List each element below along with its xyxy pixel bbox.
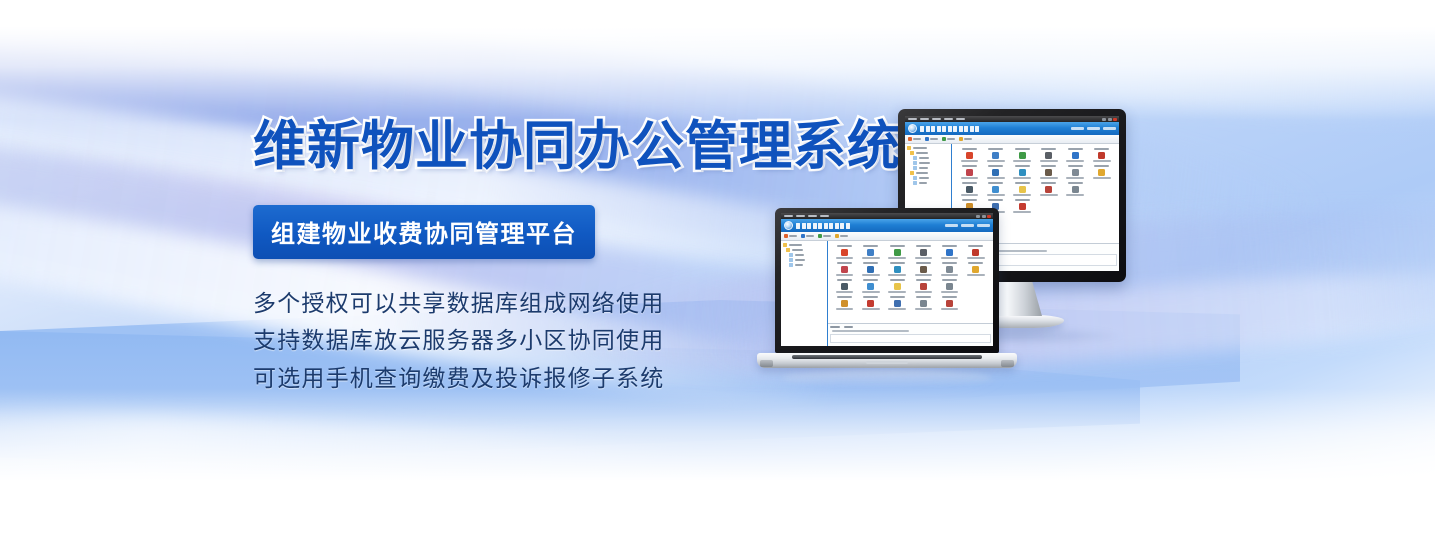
module-label — [915, 257, 932, 259]
module-icon[interactable] — [992, 169, 999, 176]
module-icon-cell[interactable] — [1063, 182, 1087, 196]
module-icon[interactable] — [1098, 169, 1105, 176]
module-icon[interactable] — [966, 152, 973, 159]
app-title-text — [920, 126, 979, 132]
menu-item[interactable] — [808, 215, 817, 217]
module-label — [888, 274, 905, 276]
tree-node[interactable] — [907, 156, 949, 160]
module-icon-cell[interactable] — [1010, 148, 1034, 162]
module-label — [967, 257, 984, 259]
tree-node[interactable] — [907, 166, 949, 170]
module-icon[interactable] — [1072, 169, 1079, 176]
toolbar-button[interactable] — [925, 137, 938, 141]
module-caption — [1015, 148, 1030, 150]
app-toolbar[interactable] — [905, 135, 1119, 144]
module-icon-cell[interactable] — [938, 279, 962, 293]
module-icon[interactable] — [1072, 152, 1079, 159]
module-icon-cell[interactable] — [957, 182, 981, 196]
tree-node[interactable] — [783, 258, 825, 262]
module-label — [941, 308, 958, 310]
module-label — [915, 274, 932, 276]
navigation-tree[interactable] — [781, 241, 828, 346]
module-icon[interactable] — [920, 300, 927, 307]
module-icon-cell[interactable] — [911, 245, 935, 259]
maximize-icon[interactable] — [982, 215, 986, 218]
laptop-screen — [781, 213, 993, 346]
module-label — [1093, 177, 1111, 179]
module-icon-cell[interactable] — [1063, 216, 1087, 230]
maximize-icon[interactable] — [1108, 118, 1112, 121]
laptop-lid — [775, 208, 999, 353]
module-icon[interactable] — [1098, 152, 1105, 159]
app-window-laptop — [781, 213, 993, 346]
tree-node[interactable] — [907, 146, 949, 150]
module-label — [987, 177, 1005, 179]
module-icon-cell[interactable] — [964, 296, 988, 310]
module-label — [862, 308, 879, 310]
window-controls[interactable] — [1102, 118, 1117, 121]
module-caption — [837, 296, 852, 298]
module-icon-cell[interactable] — [911, 262, 935, 276]
module-caption — [916, 245, 931, 247]
menu-item[interactable] — [956, 118, 965, 120]
module-icon-cell[interactable] — [833, 262, 857, 276]
header-link[interactable] — [977, 224, 990, 227]
module-label — [1066, 160, 1084, 162]
bottom-panel-header — [830, 326, 991, 328]
app-title-text — [796, 223, 850, 229]
module-icon-cell[interactable] — [938, 296, 962, 310]
module-icon-cell[interactable] — [859, 296, 883, 310]
module-icon-cell[interactable] — [1037, 199, 1061, 213]
app-main-panel — [828, 241, 993, 346]
module-icon[interactable] — [894, 283, 901, 290]
module-label — [987, 194, 1005, 196]
module-label — [1013, 160, 1031, 162]
module-icon[interactable] — [894, 300, 901, 307]
laptop-reflection — [782, 370, 992, 386]
module-icon-cell[interactable] — [957, 165, 981, 179]
tree-node[interactable] — [907, 151, 949, 155]
module-icon[interactable] — [867, 266, 874, 273]
toolbar-button[interactable] — [801, 234, 814, 238]
module-caption — [1068, 182, 1083, 184]
header-link[interactable] — [1071, 127, 1084, 130]
module-icon[interactable] — [1045, 186, 1052, 193]
module-icon[interactable] — [1072, 186, 1079, 193]
app-header — [781, 219, 993, 232]
module-icon-cell[interactable] — [938, 245, 962, 259]
module-label — [1040, 160, 1058, 162]
close-icon[interactable] — [987, 215, 991, 218]
header-link[interactable] — [1087, 127, 1100, 130]
module-caption — [968, 245, 983, 247]
module-caption — [890, 279, 905, 281]
module-label — [941, 291, 958, 293]
module-caption — [942, 262, 957, 264]
app-body — [781, 241, 993, 346]
module-label — [888, 257, 905, 259]
bottom-panel-line — [832, 330, 909, 332]
module-caption — [988, 199, 1003, 201]
background-bottom-fade — [0, 388, 1435, 538]
module-caption — [942, 279, 957, 281]
module-icon-cell[interactable] — [833, 296, 857, 310]
toolbar-button[interactable] — [818, 234, 831, 238]
module-label — [1066, 194, 1084, 196]
module-label — [961, 194, 979, 196]
module-icon[interactable] — [841, 283, 848, 290]
module-icon-cell[interactable] — [1063, 148, 1087, 162]
module-icon-cell[interactable] — [964, 279, 988, 293]
module-label — [1066, 177, 1084, 179]
module-caption — [942, 296, 957, 298]
module-caption — [1015, 182, 1030, 184]
module-caption — [890, 296, 905, 298]
toolbar-button[interactable] — [784, 234, 797, 238]
module-icon-cell[interactable] — [964, 262, 988, 276]
app-toolbar[interactable] — [781, 232, 993, 241]
laptop-foot-left — [760, 360, 773, 367]
laptop-base — [757, 353, 1017, 368]
module-icon-cell[interactable] — [859, 245, 883, 259]
app-header — [905, 122, 1119, 135]
module-caption — [1094, 165, 1109, 167]
tree-node[interactable] — [907, 161, 949, 165]
close-icon[interactable] — [1113, 118, 1117, 121]
module-label — [967, 274, 984, 276]
module-icon[interactable] — [894, 266, 901, 273]
module-caption — [916, 262, 931, 264]
module-icon[interactable] — [1019, 186, 1026, 193]
app-header-links[interactable] — [1071, 127, 1116, 130]
module-icon-cell[interactable] — [1090, 165, 1114, 179]
module-icon-cell[interactable] — [1037, 216, 1061, 230]
tree-node[interactable] — [907, 171, 949, 175]
header-link[interactable] — [961, 224, 974, 227]
module-caption — [962, 199, 977, 201]
module-caption — [1041, 148, 1056, 150]
module-icon-cell[interactable] — [833, 245, 857, 259]
module-icon-grid[interactable] — [828, 241, 993, 323]
module-caption — [916, 279, 931, 281]
menu-item[interactable] — [796, 215, 805, 217]
menu-item[interactable] — [908, 118, 917, 120]
module-icon-cell[interactable] — [885, 262, 909, 276]
module-caption — [942, 245, 957, 247]
module-icon-cell[interactable] — [1063, 165, 1087, 179]
app-logo-icon — [908, 124, 917, 133]
module-icon[interactable] — [1045, 152, 1052, 159]
toolbar-button[interactable] — [835, 234, 848, 238]
tagline-badge: 组建物业收费协同管理平台 — [253, 205, 595, 259]
module-icon[interactable] — [894, 249, 901, 256]
module-icon-cell[interactable] — [1063, 199, 1087, 213]
module-caption — [1041, 165, 1056, 167]
module-caption — [890, 245, 905, 247]
module-label — [941, 257, 958, 259]
module-icon-cell[interactable] — [911, 296, 935, 310]
module-label — [862, 291, 879, 293]
module-caption — [988, 148, 1003, 150]
module-label — [961, 177, 979, 179]
module-icon-cell[interactable] — [1010, 165, 1034, 179]
tree-node[interactable] — [783, 243, 825, 247]
module-icon[interactable] — [966, 186, 973, 193]
module-label — [1093, 160, 1111, 162]
module-label — [941, 274, 958, 276]
module-label — [1013, 194, 1031, 196]
module-caption — [988, 182, 1003, 184]
tree-node[interactable] — [783, 263, 825, 267]
module-icon-cell[interactable] — [964, 245, 988, 259]
module-icon-cell[interactable] — [984, 165, 1008, 179]
module-icon[interactable] — [841, 300, 848, 307]
module-icon[interactable] — [920, 266, 927, 273]
module-icon-cell[interactable] — [984, 148, 1008, 162]
laptop-device — [757, 208, 1017, 386]
menu-item[interactable] — [944, 118, 953, 120]
module-icon-cell[interactable] — [1010, 182, 1034, 196]
menu-item[interactable] — [820, 215, 829, 217]
laptop-foot-right — [1001, 360, 1014, 367]
menu-item[interactable] — [784, 215, 793, 217]
module-icon[interactable] — [1019, 203, 1026, 210]
module-icon-cell[interactable] — [957, 148, 981, 162]
module-icon[interactable] — [867, 300, 874, 307]
module-caption — [837, 279, 852, 281]
module-icon-cell[interactable] — [1090, 182, 1114, 196]
module-icon[interactable] — [972, 249, 979, 256]
module-caption — [863, 279, 878, 281]
module-icon-cell[interactable] — [911, 279, 935, 293]
module-caption — [837, 262, 852, 264]
tree-node[interactable] — [783, 253, 825, 257]
app-bottom-panel — [828, 323, 993, 346]
module-icon[interactable] — [841, 249, 848, 256]
module-caption — [1068, 148, 1083, 150]
module-icon-cell[interactable] — [1037, 182, 1061, 196]
module-caption — [962, 165, 977, 167]
module-icon[interactable] — [920, 249, 927, 256]
module-icon-cell[interactable] — [859, 279, 883, 293]
module-icon-cell[interactable] — [1090, 148, 1114, 162]
module-icon[interactable] — [946, 283, 953, 290]
module-caption — [863, 262, 878, 264]
window-controls[interactable] — [976, 215, 991, 218]
module-icon[interactable] — [972, 266, 979, 273]
module-icon[interactable] — [992, 186, 999, 193]
module-icon-cell[interactable] — [1090, 216, 1114, 230]
tree-node[interactable] — [783, 248, 825, 252]
module-caption — [1094, 148, 1109, 150]
module-icon[interactable] — [867, 249, 874, 256]
module-icon-cell[interactable] — [938, 262, 962, 276]
tree-node[interactable] — [907, 176, 949, 180]
app-logo-icon — [784, 221, 793, 230]
module-caption — [1015, 199, 1030, 201]
module-icon[interactable] — [867, 283, 874, 290]
module-icon[interactable] — [1045, 169, 1052, 176]
module-icon[interactable] — [1019, 152, 1026, 159]
bottom-panel-box — [830, 334, 991, 343]
module-icon[interactable] — [1019, 169, 1026, 176]
module-caption — [863, 296, 878, 298]
device-mockups — [735, 95, 1155, 425]
module-caption — [988, 165, 1003, 167]
module-caption — [916, 296, 931, 298]
module-icon-cell[interactable] — [885, 245, 909, 259]
module-caption — [962, 148, 977, 150]
module-icon[interactable] — [841, 266, 848, 273]
module-caption — [1068, 165, 1083, 167]
module-icon[interactable] — [920, 283, 927, 290]
app-header-links[interactable] — [945, 224, 990, 227]
minimize-icon[interactable] — [976, 215, 980, 218]
toolbar-button[interactable] — [959, 137, 972, 141]
module-caption — [1041, 182, 1056, 184]
menu-item[interactable] — [932, 118, 941, 120]
module-label — [915, 308, 932, 310]
module-label — [836, 308, 853, 310]
module-label — [888, 308, 905, 310]
module-icon[interactable] — [966, 169, 973, 176]
promo-banner: 维新物业协同办公管理系统 组建物业收费协同管理平台 多个授权可以共享数据库组成网… — [0, 0, 1435, 538]
module-label — [888, 291, 905, 293]
module-icon[interactable] — [946, 300, 953, 307]
module-label — [836, 291, 853, 293]
module-label — [915, 291, 932, 293]
module-icon[interactable] — [946, 266, 953, 273]
module-label — [836, 257, 853, 259]
background-top-fade — [0, 0, 1435, 120]
laptop-keyboard[interactable] — [792, 355, 982, 359]
module-caption — [863, 245, 878, 247]
module-icon-cell[interactable] — [1037, 165, 1061, 179]
module-icon-cell[interactable] — [885, 279, 909, 293]
module-icon-cell[interactable] — [1037, 148, 1061, 162]
module-icon-cell[interactable] — [859, 262, 883, 276]
minimize-icon[interactable] — [1102, 118, 1106, 121]
module-label — [862, 257, 879, 259]
module-icon-cell[interactable] — [1090, 199, 1114, 213]
toolbar-button[interactable] — [942, 137, 955, 141]
module-icon-cell[interactable] — [984, 182, 1008, 196]
module-label — [987, 160, 1005, 162]
module-caption — [968, 262, 983, 264]
menu-item[interactable] — [920, 118, 929, 120]
module-icon-cell[interactable] — [833, 279, 857, 293]
module-caption — [837, 245, 852, 247]
header-link[interactable] — [1103, 127, 1116, 130]
toolbar-button[interactable] — [908, 137, 921, 141]
module-caption — [1015, 165, 1030, 167]
module-label — [1013, 177, 1031, 179]
module-icon[interactable] — [992, 152, 999, 159]
module-icon[interactable] — [946, 249, 953, 256]
tree-node[interactable] — [907, 181, 949, 185]
module-label — [1040, 194, 1058, 196]
module-label — [1040, 177, 1058, 179]
module-label — [862, 274, 879, 276]
module-caption — [962, 182, 977, 184]
module-caption — [890, 262, 905, 264]
laptop-trackpad[interactable] — [866, 361, 908, 364]
module-label — [961, 160, 979, 162]
header-link[interactable] — [945, 224, 958, 227]
module-label — [836, 274, 853, 276]
module-icon-cell[interactable] — [885, 296, 909, 310]
